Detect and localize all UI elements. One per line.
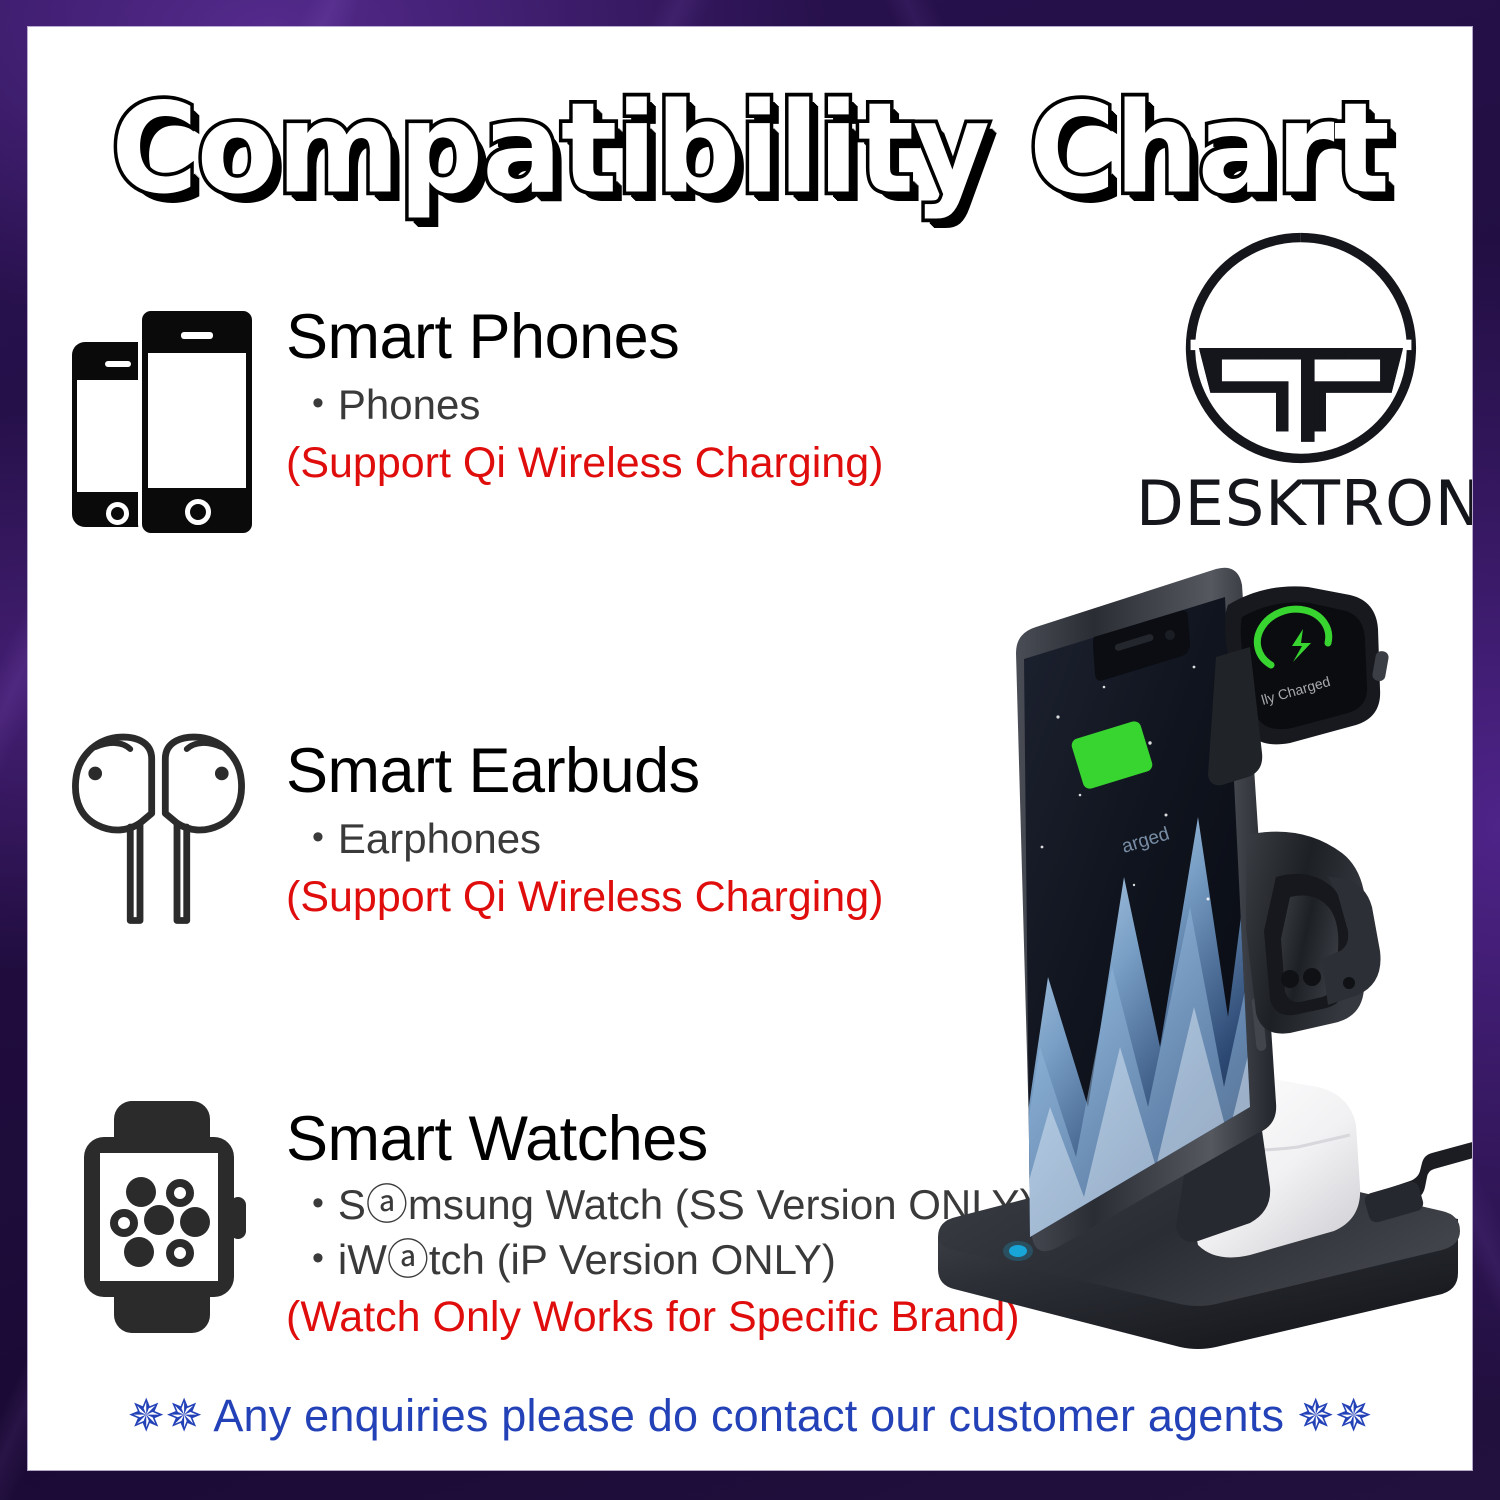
list-item-label: iWⓐtch (iP Version ONLY) <box>338 1234 836 1287</box>
product-image: arged <box>898 547 1472 1377</box>
smart-earbuds-heading: Smart Earbuds <box>286 739 883 803</box>
brand-name: DESKTRON <box>1136 467 1466 540</box>
earbuds-icon <box>66 727 251 927</box>
bullet-icon: • <box>312 813 324 861</box>
watch-app-dot <box>126 1177 156 1207</box>
watch-app-dot <box>144 1205 174 1235</box>
watch-digital-crown <box>230 1197 246 1239</box>
content-card: Compatibility Chart Smart Phones <box>28 27 1472 1470</box>
watch-app-dot <box>180 1207 210 1237</box>
footer-note: ✵✵ Any enquiries please do contact our c… <box>28 1389 1472 1442</box>
poster-frame: Compatibility Chart Smart Phones <box>0 0 1500 1500</box>
brand-logo: DESKTRON <box>1136 223 1466 540</box>
smart-phones-heading: Smart Phones <box>286 305 883 369</box>
charging-stand-illustration: arged <box>898 547 1472 1377</box>
bullet-icon: • <box>312 379 324 427</box>
desktron-mark-icon <box>1176 223 1426 473</box>
page-title: Compatibility Chart <box>28 89 1472 207</box>
bullet-icon: • <box>312 1234 324 1282</box>
watch-screen <box>100 1153 218 1281</box>
phone-large-screen <box>148 353 246 488</box>
watch-app-ring <box>166 1239 194 1267</box>
list-item: • Phones <box>286 379 883 432</box>
smart-earbuds-text: Smart Earbuds • Earphones (Support Qi Wi… <box>286 739 883 923</box>
smart-phones-note: (Support Qi Wireless Charging) <box>286 438 883 490</box>
list-item: • Earphones <box>286 813 883 866</box>
phone-large-body <box>138 307 256 537</box>
phone-large-speaker <box>181 332 213 339</box>
smartphones-icon <box>66 297 251 527</box>
section-smart-watches: Smart Watches • Sⓐmsung Watch (SS Versio… <box>66 1099 1006 1359</box>
section-smart-phones: Smart Phones • Phones (Support Qi Wirele… <box>66 297 886 557</box>
smartwatch-icon <box>66 1099 251 1334</box>
watch-app-ring <box>110 1209 138 1237</box>
watch-app-dot <box>124 1237 154 1267</box>
section-smart-earbuds: Smart Earbuds • Earphones (Support Qi Wi… <box>66 727 886 977</box>
bullet-icon: • <box>312 1179 324 1227</box>
earbuds-glyph <box>66 727 251 927</box>
watch-app-ring <box>166 1179 194 1207</box>
watch-case <box>84 1137 234 1297</box>
phone-large-home-button <box>185 499 211 525</box>
phone-small-speaker <box>105 361 131 367</box>
smart-earbuds-note: (Support Qi Wireless Charging) <box>286 872 883 924</box>
list-item-label: Earphones <box>338 813 541 866</box>
phone-small-home-button <box>106 502 129 525</box>
list-item-label: Phones <box>338 379 480 432</box>
usb-c-cable <box>1363 1135 1472 1224</box>
smart-phones-text: Smart Phones • Phones (Support Qi Wirele… <box>286 305 883 489</box>
page-title-text: Compatibility Chart <box>111 85 1389 210</box>
